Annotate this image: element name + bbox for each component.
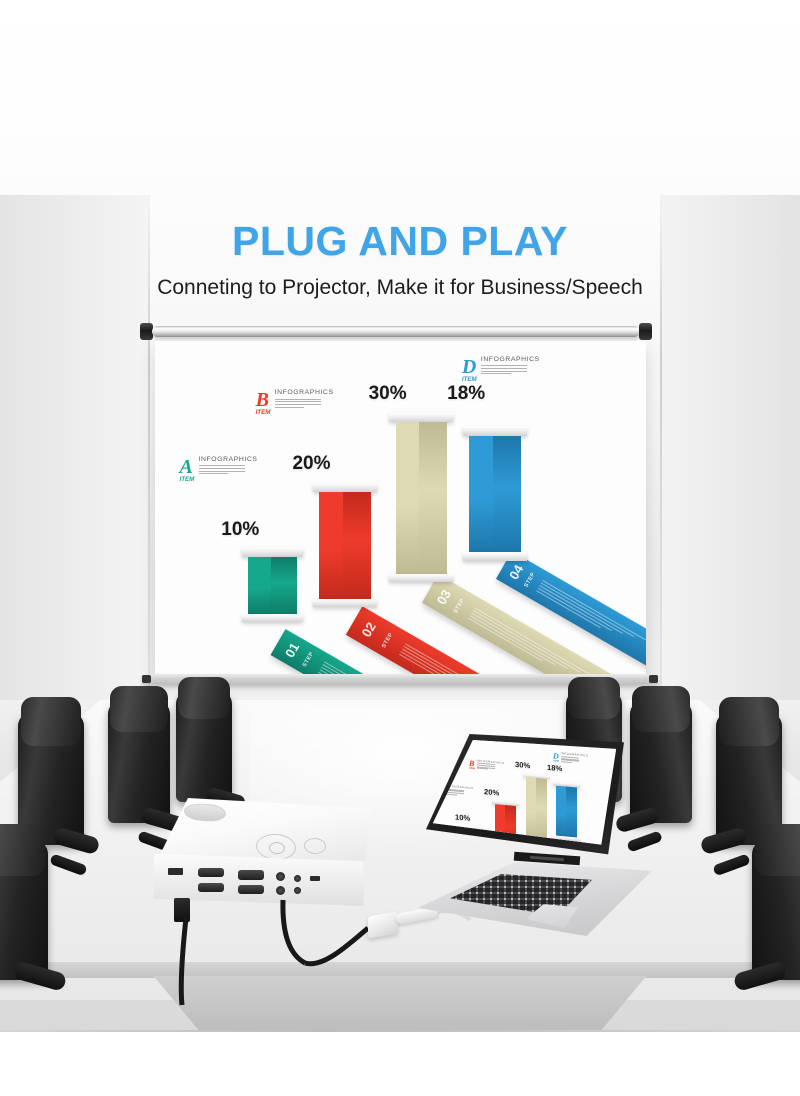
audio-jack-1[interactable] bbox=[294, 875, 301, 882]
step-number: 02 bbox=[359, 619, 379, 639]
bar-value-label: 10% bbox=[221, 519, 259, 541]
table-edge bbox=[0, 962, 800, 978]
hdmi-port[interactable] bbox=[168, 868, 183, 875]
usb-port[interactable] bbox=[310, 876, 320, 881]
bar-value-label: 10% bbox=[455, 812, 470, 822]
bar-face-left bbox=[248, 557, 271, 613]
bar-face-right bbox=[419, 422, 447, 573]
legend-body-text bbox=[199, 465, 247, 475]
vga-port-2[interactable] bbox=[198, 883, 224, 892]
chair-headrest bbox=[755, 824, 800, 876]
bar-face-left bbox=[319, 492, 343, 598]
bar-cap bbox=[389, 413, 453, 423]
bar-face-left bbox=[556, 786, 566, 837]
chair-headrest bbox=[178, 677, 230, 719]
chair-headrest bbox=[719, 697, 780, 746]
bar-base bbox=[389, 574, 453, 583]
bar-face-right bbox=[493, 436, 521, 552]
step-word: STEP bbox=[523, 572, 536, 589]
bar-value-label: 20% bbox=[484, 787, 499, 797]
legend-body-text bbox=[481, 365, 529, 375]
bar-column-d bbox=[469, 426, 521, 561]
legend-item-label: ITEM bbox=[180, 476, 195, 483]
legend-title: INFOGRAPHICS bbox=[481, 356, 540, 363]
bar-shaft bbox=[396, 422, 448, 573]
legend-body-text bbox=[561, 756, 580, 764]
audio-jack-2[interactable] bbox=[294, 887, 301, 894]
bar-base bbox=[464, 854, 489, 860]
bar-column-b bbox=[319, 483, 371, 608]
bar-base bbox=[242, 614, 303, 623]
bar-shaft bbox=[469, 436, 521, 552]
legend-title: INFOGRAPHICS bbox=[199, 456, 258, 463]
bar-face-left bbox=[396, 422, 420, 573]
bar-face-left bbox=[526, 777, 536, 843]
bar-value-label: 20% bbox=[292, 453, 330, 475]
bar-face-right bbox=[566, 787, 577, 838]
white-conference-projector bbox=[150, 798, 378, 918]
legend-item-label: ITEM bbox=[462, 376, 477, 383]
bar-shaft bbox=[556, 786, 577, 838]
bar-column-a bbox=[248, 547, 297, 622]
legend-body-text bbox=[477, 763, 496, 771]
chair-headrest bbox=[0, 824, 45, 876]
bar-face-right bbox=[536, 778, 547, 844]
screen-roller-bar bbox=[140, 323, 652, 341]
bar-cap bbox=[313, 483, 377, 493]
chair-headrest bbox=[110, 686, 167, 732]
bar-shaft bbox=[248, 557, 297, 613]
step-number: 01 bbox=[282, 640, 302, 660]
rca-jack-2[interactable] bbox=[276, 886, 285, 895]
bar-shaft bbox=[526, 777, 547, 844]
product-banner: PLUG AND PLAY Conneting to Projector, Ma… bbox=[0, 0, 800, 1096]
bar-face-right bbox=[271, 557, 298, 613]
bar-column-c bbox=[396, 413, 448, 583]
laptop-with-presentation: 01STEP10%AITEMINFOGRAPHICS02STEP20%BITEM… bbox=[418, 734, 658, 940]
pull-down-projection-screen: 01STEP10%AITEMINFOGRAPHICS02STEP20%BITEM… bbox=[155, 341, 646, 674]
vga-port-3[interactable] bbox=[238, 870, 264, 880]
office-chair bbox=[0, 840, 48, 1040]
rca-jack-1[interactable] bbox=[276, 872, 285, 881]
step-word: STEP bbox=[302, 651, 315, 668]
bar-face-left bbox=[495, 804, 505, 851]
bar-value-label: 30% bbox=[369, 383, 407, 405]
bar-base bbox=[313, 599, 377, 608]
legend-item-label: ITEM bbox=[256, 409, 271, 416]
page-title: PLUG AND PLAY bbox=[0, 218, 800, 265]
bar-column-b bbox=[495, 800, 516, 855]
vga-port-4[interactable] bbox=[238, 885, 264, 894]
vga-port-1[interactable] bbox=[198, 868, 224, 877]
projected-infographic: 01STEP10%AITEMINFOGRAPHICS02STEP20%BITEM… bbox=[155, 341, 646, 674]
bar-cap bbox=[463, 426, 527, 436]
office-chair bbox=[752, 840, 800, 1040]
hdmi-plug bbox=[174, 898, 190, 922]
bar-face-right bbox=[505, 805, 516, 852]
chair-headrest bbox=[21, 697, 82, 746]
adapter-body bbox=[368, 911, 398, 938]
table-underside bbox=[120, 976, 680, 1030]
roller-tube bbox=[152, 326, 640, 337]
legend-item-label: ITEM bbox=[553, 760, 559, 764]
wall-seam-right bbox=[660, 195, 662, 715]
bar-base bbox=[463, 552, 527, 561]
bar-face-right bbox=[343, 492, 371, 598]
step-number: 03 bbox=[434, 587, 454, 607]
bar-value-label: 30% bbox=[515, 760, 530, 770]
bar-shaft bbox=[319, 492, 371, 598]
bottom-white-band bbox=[0, 1032, 800, 1096]
bar-shaft bbox=[495, 804, 516, 852]
legend-body-text bbox=[275, 399, 323, 409]
roller-end-cap-right bbox=[639, 323, 652, 340]
bar-cap bbox=[242, 547, 303, 557]
chair-headrest bbox=[633, 686, 690, 732]
legend-item-label: ITEM bbox=[469, 766, 475, 770]
legend-title: INFOGRAPHICS bbox=[275, 389, 334, 396]
chair-armrest bbox=[712, 853, 751, 876]
step-number: 04 bbox=[506, 562, 526, 582]
bar-face-left bbox=[469, 436, 493, 552]
bar-column-d bbox=[556, 782, 577, 841]
wall-seam-left bbox=[148, 195, 150, 715]
step-word: STEP bbox=[381, 632, 394, 649]
chair-armrest bbox=[49, 853, 88, 876]
legend-letter: A bbox=[438, 784, 443, 793]
bar-legend-d: DITEMINFOGRAPHICS bbox=[462, 356, 609, 396]
step-word: STEP bbox=[453, 598, 466, 615]
page-subtitle: Conneting to Projector, Make it for Busi… bbox=[0, 276, 800, 300]
chair-headrest bbox=[568, 677, 620, 719]
